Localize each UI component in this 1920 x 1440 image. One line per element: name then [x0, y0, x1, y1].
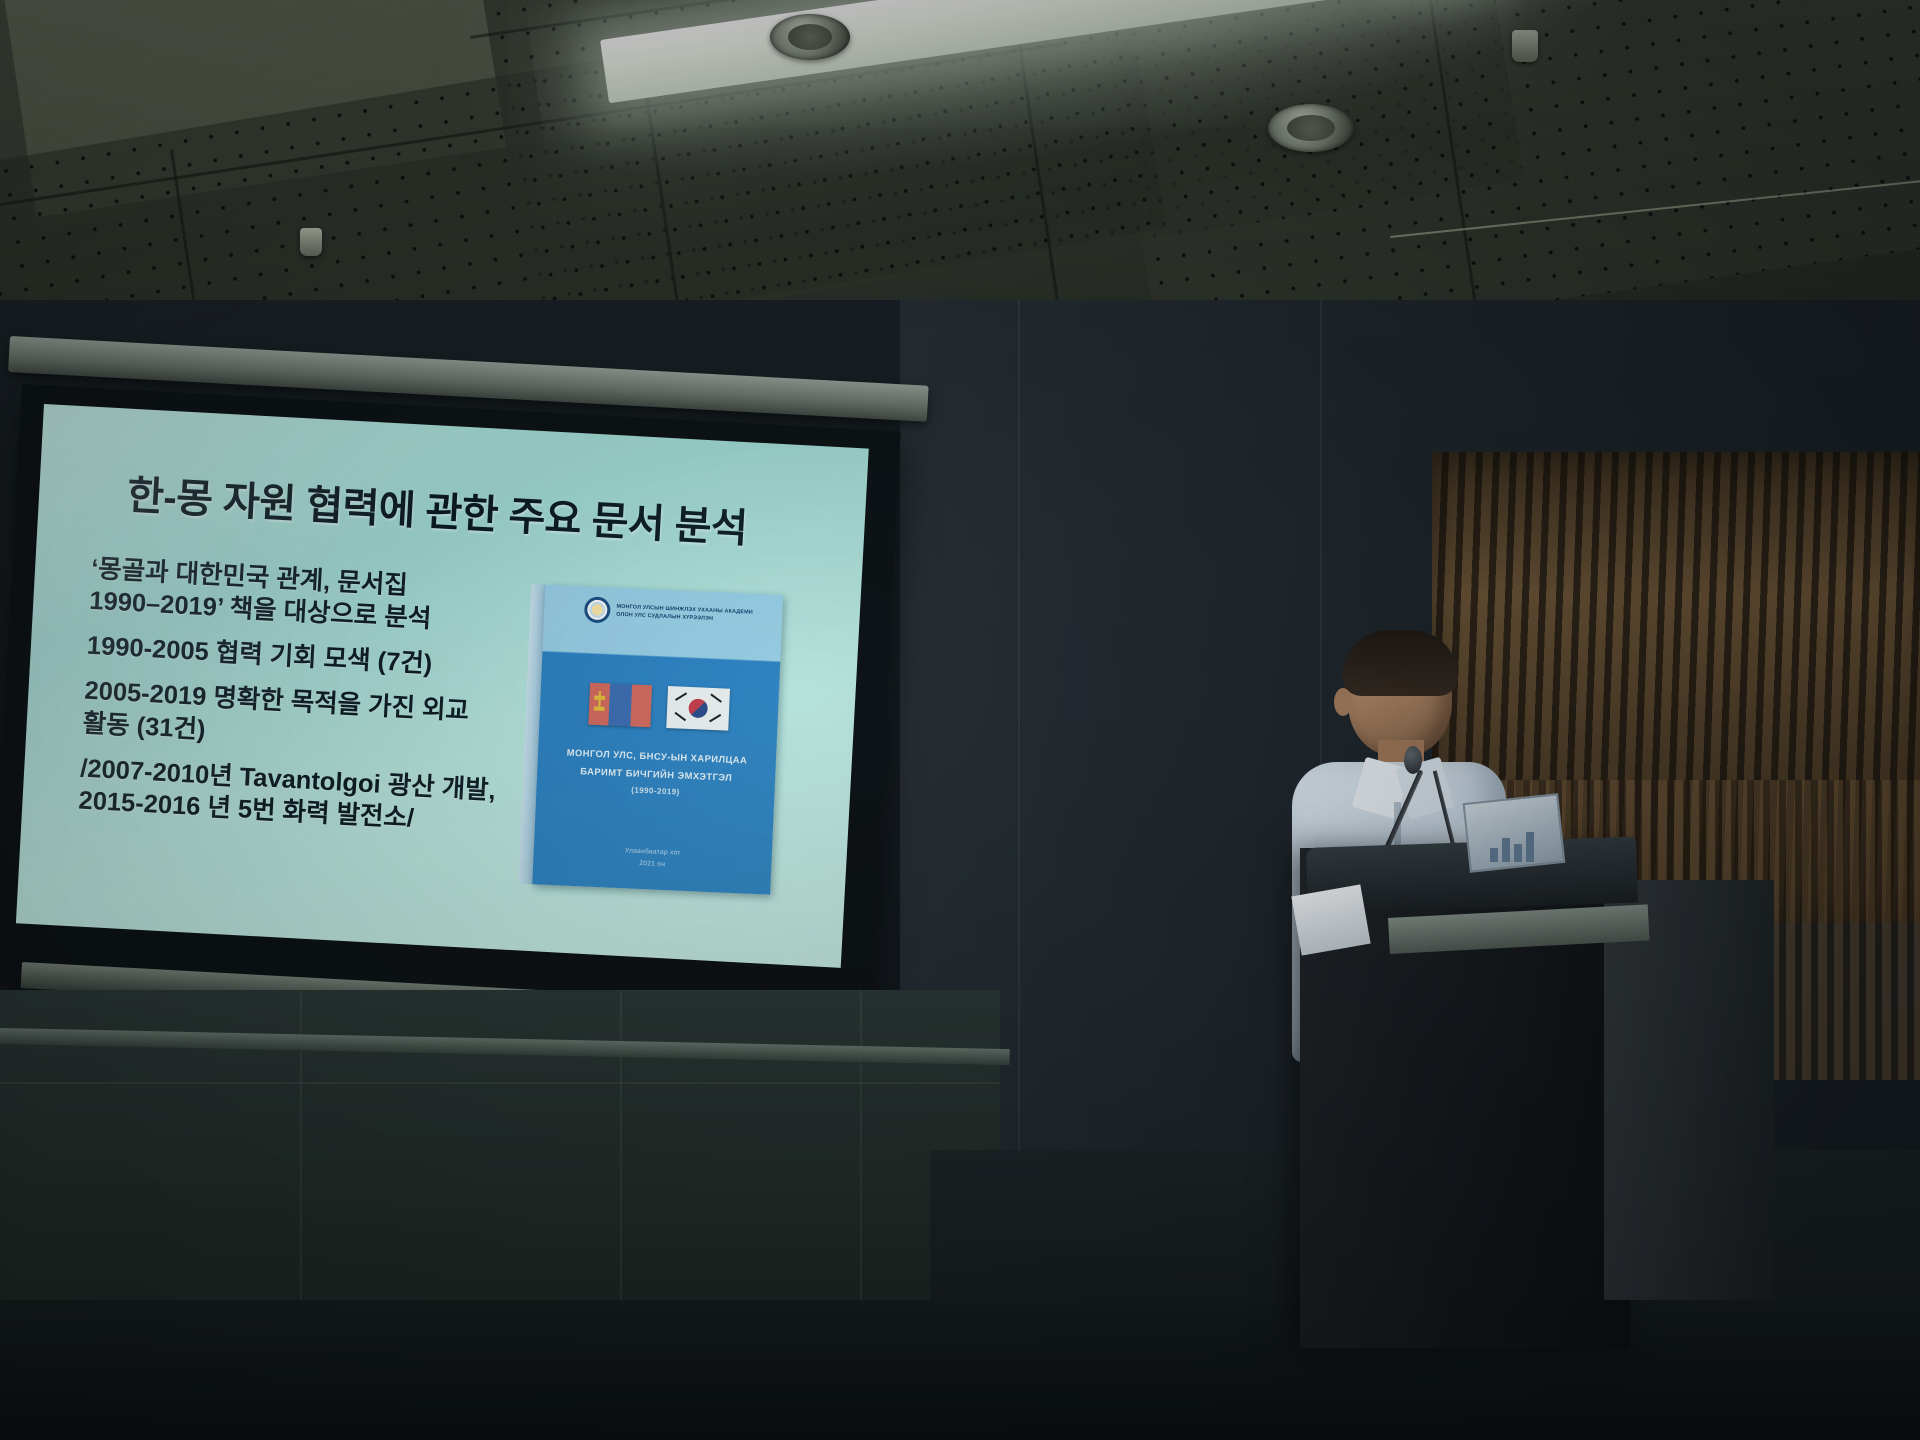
soyombo-icon — [593, 691, 605, 717]
stage-panel-seam — [0, 1082, 1000, 1084]
book-imprint: Улаанбаатар хот 2021 он — [533, 841, 772, 876]
slide-body-line: 1990-2005 협력 기회 모색 (7건) — [86, 630, 517, 685]
slide-title: 한-몽 자원 협력에 관한 주요 문서 분석 — [126, 463, 840, 559]
presenter-ear — [1334, 688, 1352, 716]
flag-pair — [588, 683, 730, 731]
slide-body-line: ‘몽골과 대한민국 관계, 문서집 1990–2019’ 책을 대상으로 분석 — [89, 553, 522, 640]
printed-notes — [1291, 884, 1370, 955]
laptop-screen-chart — [1490, 828, 1550, 862]
taeguk-icon — [688, 698, 708, 718]
microphone-icon — [1404, 746, 1422, 774]
book-front-cover: МОНГОЛ УЛСЫН ШИНЖЛЭХ УХААНЫ АКАДЕМИ ОЛОН… — [532, 585, 783, 895]
academy-logo: МОНГОЛ УЛСЫН ШИНЖЛЭХ УХААНЫ АКАДЕМИ ОЛОН… — [584, 596, 753, 629]
sprinkler-head — [1512, 30, 1538, 62]
slide-body-line: /2007-2010년 Tavantolgoi 광산 개발, 2015-2016… — [78, 752, 511, 839]
mongolia-flag-icon — [588, 683, 652, 728]
round-air-diffuser — [1268, 104, 1354, 152]
presentation-photo: 한-몽 자원 협력에 관한 주요 문서 분석 ‘몽골과 대한민국 관계, 문서집… — [0, 0, 1920, 1440]
projection-screen: 한-몽 자원 협력에 관한 주요 문서 분석 ‘몽골과 대한민국 관계, 문서집… — [16, 404, 869, 968]
logo-text: МОНГОЛ УЛСЫН ШИНЖЛЭХ УХААНЫ АКАДЕМИ ОЛОН… — [616, 603, 753, 625]
foreground-floor — [0, 1300, 1920, 1440]
slide-body-line: 2005-2019 명확한 목적을 가진 외교 활동 (31건) — [82, 675, 515, 762]
book-cover-image: МОНГОЛ УЛСЫН ШИНЖЛЭХ УХААНЫ АКАДЕМИ ОЛОН… — [518, 584, 783, 895]
book-title: МОНГОЛ УЛС, БНСУ-ЫН ХАРИЛЦАА БАРИМТ БИЧГ… — [536, 742, 776, 803]
round-air-diffuser — [770, 14, 850, 60]
presenter-hair — [1342, 630, 1458, 696]
slide-body: ‘몽골과 대한민국 관계, 문서집 1990–2019’ 책을 대상으로 분석 … — [77, 553, 521, 853]
logo-ring-icon — [584, 596, 611, 623]
podium-side-panel — [1604, 880, 1774, 1300]
south-korea-flag-icon — [666, 686, 730, 731]
sprinkler-head — [300, 228, 322, 256]
presentation-slide: 한-몽 자원 협력에 관한 주요 문서 분석 ‘몽골과 대한민국 관계, 문서집… — [16, 404, 869, 968]
